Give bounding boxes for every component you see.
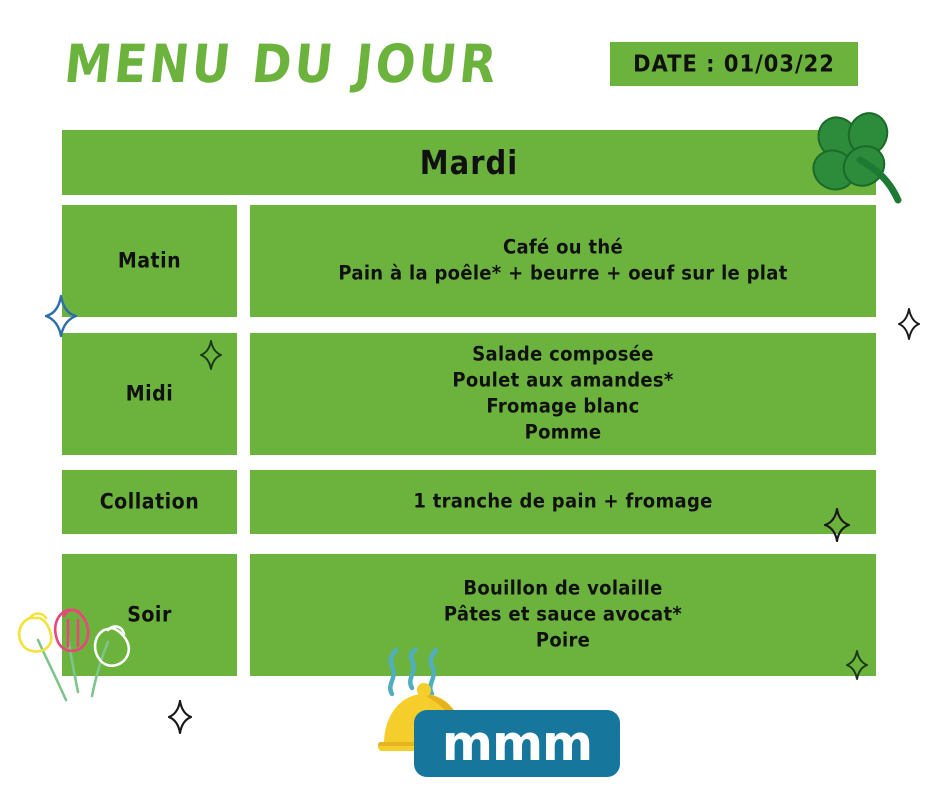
day-name: Mardi	[420, 143, 518, 181]
mmm-logo: mmm	[376, 648, 621, 780]
meal-label-text: Collation	[100, 490, 200, 514]
meal-label-text: Midi	[126, 382, 174, 406]
meal-label-collation: Collation	[62, 470, 237, 534]
meal-item: Pomme	[525, 419, 602, 447]
menu-page: MENU DU JOUR DATE : 01/03/22 Mardi Matin…	[0, 0, 940, 788]
meal-item: 1 tranche de pain + fromage	[413, 488, 712, 516]
meal-item: Pâtes et sauce avocat*	[444, 601, 682, 629]
meal-row-midi: Midi Salade composée Poulet aux amandes*…	[62, 333, 876, 455]
meal-content-matin: Café ou thé Pain à la poêle* + beurre + …	[250, 205, 876, 317]
meal-item: Pain à la poêle* + beurre + oeuf sur le …	[338, 260, 787, 288]
meal-item: Fromage blanc	[486, 393, 639, 421]
meal-label-text: Soir	[127, 603, 172, 627]
meal-row-collation: Collation 1 tranche de pain + fromage	[62, 470, 876, 534]
meal-item: Poulet aux amandes*	[452, 367, 673, 395]
page-title: MENU DU JOUR	[62, 34, 503, 96]
meal-label-matin: Matin	[62, 205, 237, 317]
meal-item: Café ou thé	[503, 234, 623, 262]
sparkle-icon	[898, 308, 920, 340]
date-badge: DATE : 01/03/22	[610, 42, 858, 86]
meal-row-matin: Matin Café ou thé Pain à la poêle* + beu…	[62, 205, 876, 317]
logo-wordmark: mmm	[414, 710, 620, 777]
meal-label-text: Matin	[118, 249, 181, 273]
meal-item: Salade composée	[472, 341, 653, 369]
meal-label-soir: Soir	[62, 554, 237, 676]
sparkle-icon	[168, 700, 192, 734]
day-header-row: Mardi	[62, 130, 876, 195]
meal-item: Bouillon de volaille	[463, 575, 662, 603]
date-badge-label: DATE : 01/03/22	[633, 51, 835, 77]
meal-content-collation: 1 tranche de pain + fromage	[250, 470, 876, 534]
meal-label-midi: Midi	[62, 333, 237, 455]
meal-content-midi: Salade composée Poulet aux amandes* From…	[250, 333, 876, 455]
